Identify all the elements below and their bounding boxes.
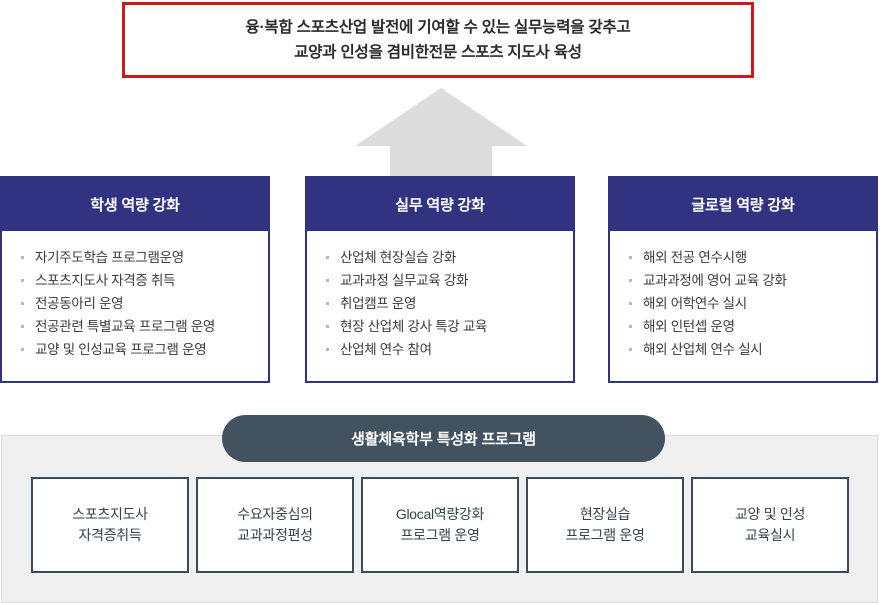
program-card-line-1: 수요자중심의 [237,504,312,525]
bullet-icon [21,279,24,282]
program-card-line-1: 현장실습 [580,504,630,525]
bullet-icon [21,302,24,305]
program-card-line-2: 자격증취득 [79,525,142,546]
program-card-row: 스포츠지도사 자격증취득 수요자중심의 교과과정편성 Glocal역량강화 프로… [31,477,849,573]
list-item-label: 교과과정에 영어 교육 강화 [643,270,787,291]
program-card-line-1: Glocal역량강화 [396,504,484,525]
list-item-label: 해외 인턴셉 운영 [643,316,735,337]
list-item-label: 해외 산업체 연수 실시 [643,339,762,360]
list-item: 교양 및 인성교육 프로그램 운영 [21,339,268,360]
program-card-line-1: 스포츠지도사 [72,504,147,525]
bullet-icon [629,325,632,328]
upward-arrow-icon [355,88,527,178]
list-item-label: 전공동아리 운영 [35,293,123,314]
list-item: 취업캠프 운영 [326,293,573,314]
bullet-icon [326,302,329,305]
goal-line-1: 융·복합 스포츠산업 발전에 기여할 수 있는 실무능력을 갖추고 [245,15,630,40]
bullet-icon [629,256,632,259]
list-item: 전공관련 특별교육 프로그램 운영 [21,316,268,337]
list-item-label: 현장 산업체 강사 특강 교육 [340,316,487,337]
bullet-icon [326,279,329,282]
pillar-practical-competency: 실무 역량 강화 산업체 현장실습 강화 교과과정 실무교육 강화 취업캠프 운… [305,176,575,383]
bullet-icon [629,302,632,305]
list-item-label: 교양 및 인성교육 프로그램 운영 [35,339,206,360]
list-item: 산업체 현장실습 강화 [326,247,573,268]
list-item-label: 해외 전공 연수시행 [643,247,747,268]
pillar-item-list: 자기주도학습 프로그램운영 스포츠지도사 자격증 취득 전공동아리 운영 전공관… [2,231,268,381]
list-item-label: 산업체 연수 참여 [340,339,432,360]
program-card-line-2: 프로그램 운영 [400,525,479,546]
pillar-glocal-competency: 글로컬 역량 강화 해외 전공 연수시행 교과과정에 영어 교육 강화 해외 어… [608,176,878,383]
list-item: 교과과정에 영어 교육 강화 [629,270,876,291]
program-card-line-2: 교육실시 [745,525,795,546]
list-item: 산업체 연수 참여 [326,339,573,360]
program-card: Glocal역량강화 프로그램 운영 [361,477,519,573]
program-card: 수요자중심의 교과과정편성 [196,477,354,573]
list-item-label: 스포츠지도사 자격증 취득 [35,270,175,291]
pillar-title: 학생 역량 강화 [2,178,268,231]
list-item: 해외 전공 연수시행 [629,247,876,268]
list-item: 해외 인턴셉 운영 [629,316,876,337]
program-card: 스포츠지도사 자격증취득 [31,477,189,573]
program-card-line-2: 프로그램 운영 [565,525,644,546]
list-item: 전공동아리 운영 [21,293,268,314]
list-item-label: 해외 어학연수 실시 [643,293,747,314]
bullet-icon [21,348,24,351]
list-item-label: 취업캠프 운영 [340,293,416,314]
bullet-icon [21,256,24,259]
list-item-label: 전공관련 특별교육 프로그램 운영 [35,316,215,337]
list-item-label: 자기주도학습 프로그램운영 [35,247,184,268]
goal-line-2: 교양과 인성을 겸비한전문 스포츠 지도사 육성 [294,40,582,65]
pillar-item-list: 산업체 현장실습 강화 교과과정 실무교육 강화 취업캠프 운영 현장 산업체 … [307,231,573,381]
bullet-icon [629,348,632,351]
bullet-icon [326,256,329,259]
pillar-columns: 학생 역량 강화 자기주도학습 프로그램운영 스포츠지도사 자격증 취득 전공동… [0,176,880,383]
pillar-title: 글로컬 역량 강화 [610,178,876,231]
pillar-title: 실무 역량 강화 [307,178,573,231]
list-item: 스포츠지도사 자격증 취득 [21,270,268,291]
pillar-item-list: 해외 전공 연수시행 교과과정에 영어 교육 강화 해외 어학연수 실시 해외 … [610,231,876,381]
bullet-icon [21,325,24,328]
program-card-line-1: 교양 및 인성 [735,504,805,525]
pillar-student-competency: 학생 역량 강화 자기주도학습 프로그램운영 스포츠지도사 자격증 취득 전공동… [0,176,270,383]
bullet-icon [326,348,329,351]
list-item: 현장 산업체 강사 특강 교육 [326,316,573,337]
list-item: 해외 어학연수 실시 [629,293,876,314]
educational-goal-box: 융·복합 스포츠산업 발전에 기여할 수 있는 실무능력을 갖추고 교양과 인성… [122,2,754,78]
bullet-icon [326,325,329,328]
list-item: 자기주도학습 프로그램운영 [21,247,268,268]
program-badge: 생활체육학부 특성화 프로그램 [222,415,665,462]
program-card: 현장실습 프로그램 운영 [526,477,684,573]
list-item: 교과과정 실무교육 강화 [326,270,573,291]
program-card: 교양 및 인성 교육실시 [691,477,849,573]
list-item-label: 산업체 현장실습 강화 [340,247,456,268]
bullet-icon [629,279,632,282]
list-item: 해외 산업체 연수 실시 [629,339,876,360]
program-card-line-2: 교과과정편성 [237,525,312,546]
list-item-label: 교과과정 실무교육 강화 [340,270,468,291]
